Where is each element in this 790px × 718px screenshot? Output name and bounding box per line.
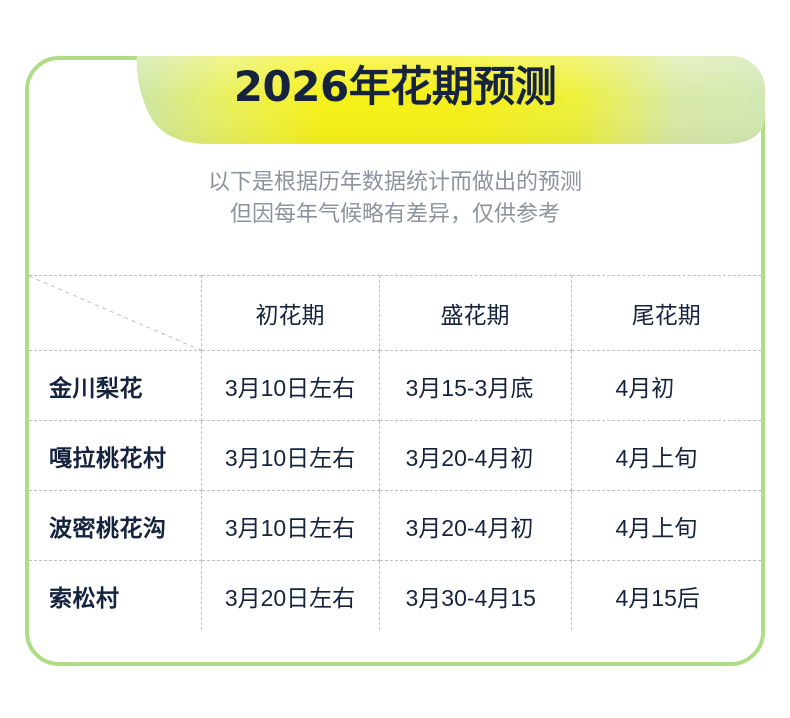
cell-peak-bloom: 3月30-4月15 — [379, 561, 571, 631]
cell-peak-bloom: 3月20-4月初 — [379, 421, 571, 491]
subtitle-line-2: 但因每年气候略有差异，仅供参考 — [0, 198, 790, 230]
cell-first-bloom: 3月10日左右 — [201, 421, 379, 491]
table-header-row: 初花期 盛花期 尾花期 — [29, 276, 761, 351]
cell-peak-bloom: 3月20-4月初 — [379, 491, 571, 561]
bloom-forecast-table: 初花期 盛花期 尾花期 金川梨花 3月10日左右 3月15-3月底 4月初 嘎拉… — [29, 275, 761, 630]
cell-peak-bloom: 3月15-3月底 — [379, 351, 571, 421]
subtitle-block: 以下是根据历年数据统计而做出的预测 但因每年气候略有差异，仅供参考 — [0, 166, 790, 230]
table-row: 波密桃花沟 3月10日左右 3月20-4月初 4月上旬 — [29, 491, 761, 561]
subtitle-line-1: 以下是根据历年数据统计而做出的预测 — [0, 166, 790, 198]
cell-late-bloom: 4月初 — [571, 351, 761, 421]
page-root: 2026年花期预测 以下是根据历年数据统计而做出的预测 但因每年气候略有差异，仅… — [0, 0, 790, 718]
cell-first-bloom: 3月10日左右 — [201, 351, 379, 421]
row-label: 金川梨花 — [29, 351, 201, 421]
diagonal-divider-icon — [29, 276, 201, 350]
table-row: 嘎拉桃花村 3月10日左右 3月20-4月初 4月上旬 — [29, 421, 761, 491]
row-label: 波密桃花沟 — [29, 491, 201, 561]
table-row: 索松村 3月20日左右 3月30-4月15 4月15后 — [29, 561, 761, 631]
cell-first-bloom: 3月20日左右 — [201, 561, 379, 631]
page-title: 2026年花期预测 — [0, 56, 790, 118]
cell-first-bloom: 3月10日左右 — [201, 491, 379, 561]
column-header-peak-bloom: 盛花期 — [379, 276, 571, 351]
row-label: 索松村 — [29, 561, 201, 631]
cell-late-bloom: 4月15后 — [571, 561, 761, 631]
cell-late-bloom: 4月上旬 — [571, 421, 761, 491]
column-header-late-bloom: 尾花期 — [571, 276, 761, 351]
row-label: 嘎拉桃花村 — [29, 421, 201, 491]
table-row: 金川梨花 3月10日左右 3月15-3月底 4月初 — [29, 351, 761, 421]
column-header-first-bloom: 初花期 — [201, 276, 379, 351]
cell-late-bloom: 4月上旬 — [571, 491, 761, 561]
table-corner-cell — [29, 276, 201, 351]
